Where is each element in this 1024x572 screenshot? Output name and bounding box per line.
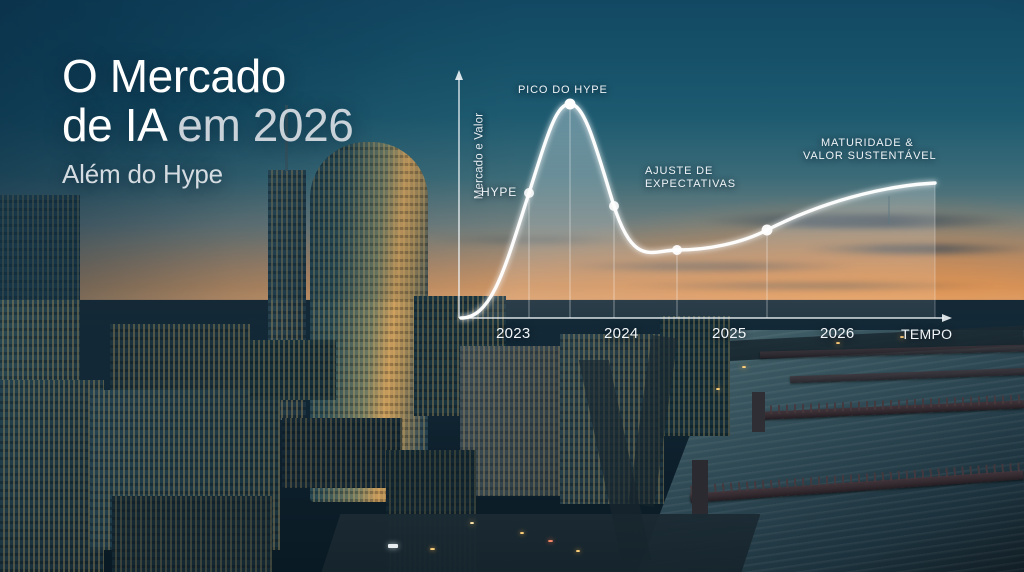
x-tick-2025: 2025	[712, 325, 747, 342]
annotation-hype: HYPE	[481, 186, 517, 199]
poster-canvas: RØDISQ O Mercado de IA em 2026 Além do H…	[0, 0, 1024, 572]
x-tick-2023: 2023	[496, 325, 531, 342]
annotation-ajuste-line2: EXPECTATIVAS	[645, 178, 736, 191]
annotation-maturidade-valor-sustentavel: MATURIDADE & VALOR SUSTENTÁVEL	[803, 137, 936, 163]
annotation-maturidade-line1: MATURIDADE &	[821, 137, 936, 150]
street-light	[576, 550, 580, 552]
bridge-pier	[692, 460, 708, 518]
avenue-main	[320, 514, 761, 572]
bridge-pier	[752, 392, 765, 432]
x-tick-2024: 2024	[604, 325, 639, 342]
building-block	[250, 340, 336, 400]
x-tick-2026: 2026	[820, 325, 855, 342]
title-block: O Mercado de IA em 2026 Além do Hype	[62, 52, 353, 190]
cloud-band	[700, 214, 1020, 228]
x-axis-title-tempo: TEMPO	[901, 326, 952, 342]
street-light	[742, 366, 746, 368]
building-block-white	[460, 346, 568, 496]
tower-left-front	[0, 380, 104, 572]
tower-spire-mast	[888, 196, 890, 224]
street-light	[716, 388, 720, 390]
annotation-maturidade-line2: VALOR SUSTENTÁVEL	[803, 150, 936, 163]
page-title-line1: O Mercado	[62, 52, 353, 101]
cloud-band	[800, 244, 1024, 254]
page-title-light: em 2026	[177, 99, 353, 151]
building-block	[110, 324, 250, 394]
street-light	[470, 522, 474, 524]
annotation-ajuste-de-expectativas: AJUSTE DE EXPECTATIVAS	[645, 165, 736, 191]
street-light	[520, 532, 524, 534]
building-block	[282, 418, 402, 488]
page-title-line2: de IA em 2026	[62, 101, 353, 150]
annotation-ajuste-line1: AJUSTE DE	[645, 165, 736, 178]
page-title-strong: de IA	[62, 99, 177, 151]
cloud-band	[430, 236, 630, 244]
building-block	[112, 496, 272, 572]
street-light	[836, 342, 840, 344]
bus-light	[388, 544, 398, 548]
cloud-band	[560, 262, 860, 271]
page-subtitle: Além do Hype	[62, 159, 353, 190]
street-light	[548, 540, 553, 542]
annotation-pico-do-hype: PICO DO HYPE	[518, 84, 608, 97]
street-light	[430, 548, 435, 550]
